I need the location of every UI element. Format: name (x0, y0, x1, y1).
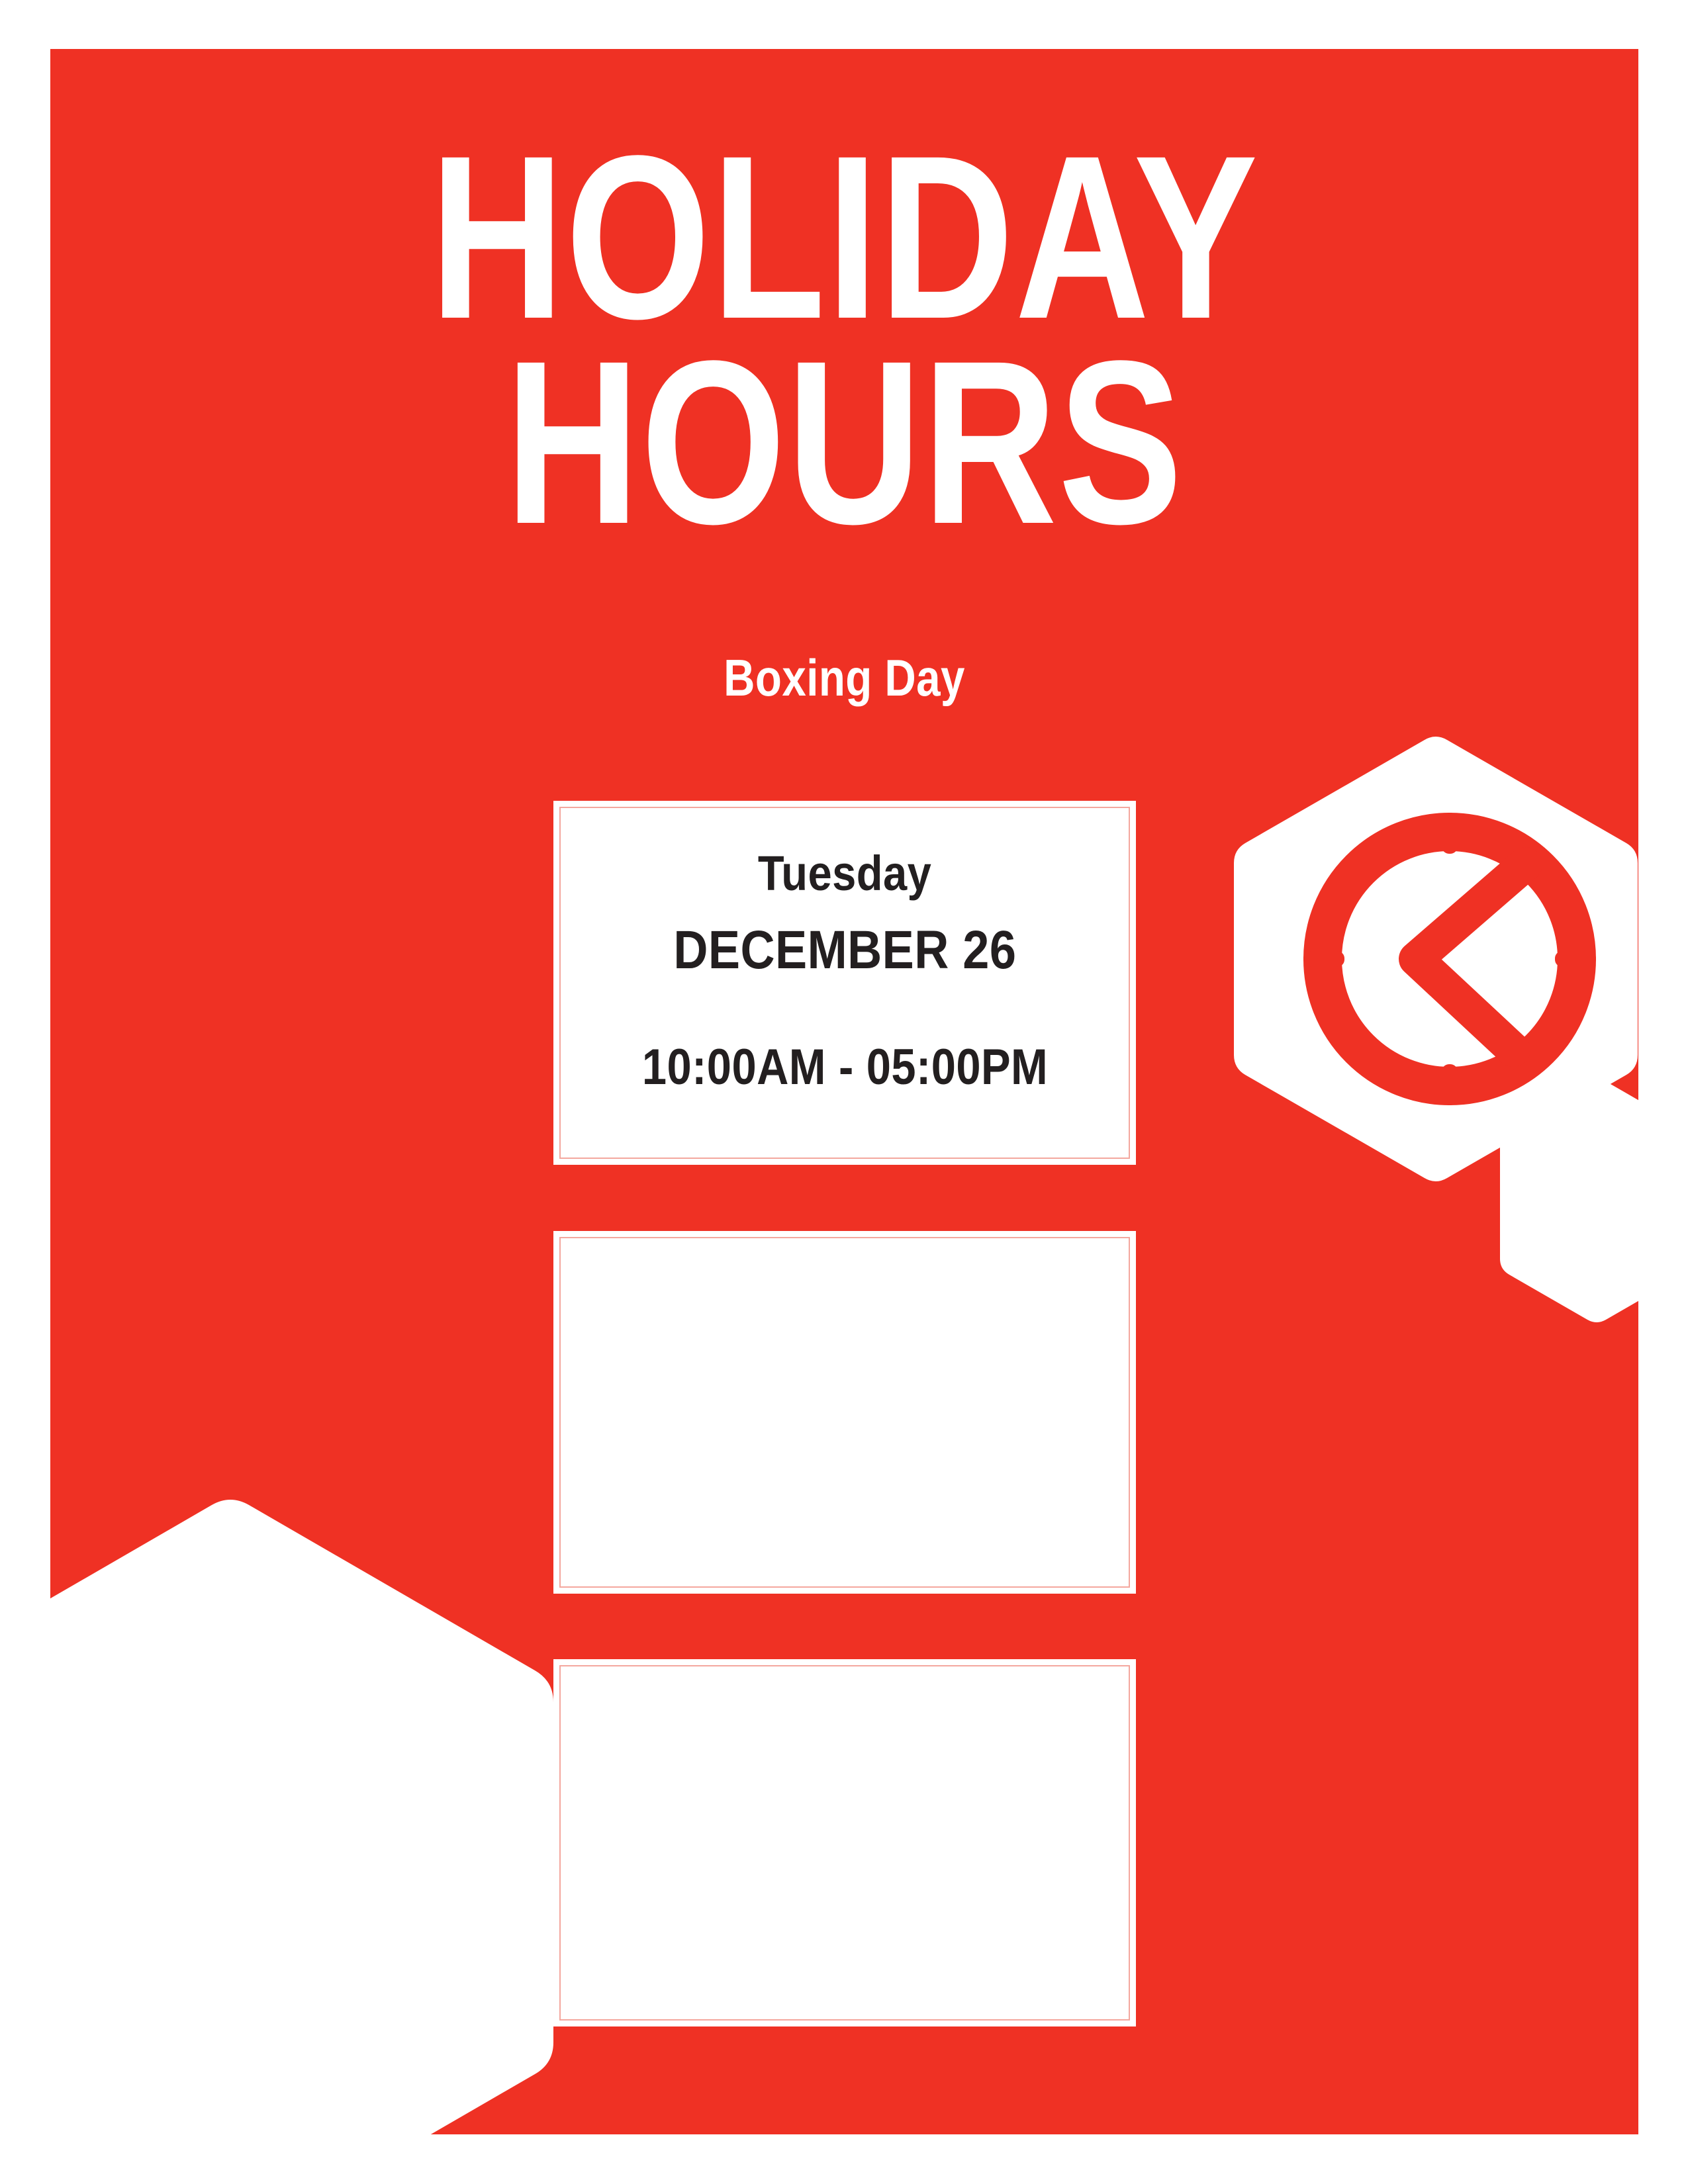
hours-card[interactable] (553, 1659, 1136, 2026)
hours-card-inner (559, 1237, 1130, 1588)
hours-card[interactable]: Tuesday DECEMBER 26 10:00AM - 05:00PM (553, 801, 1136, 1165)
hours-card[interactable] (553, 1231, 1136, 1594)
hexagon-accent-bottom-left-icon (50, 1492, 580, 2134)
poster-root: HOLIDAY HOURS Boxing Day (0, 0, 1688, 2184)
hours-card-inner (559, 1665, 1130, 2021)
hours-card-date: DECEMBER 26 (673, 923, 1016, 978)
hexagon-accent-right-icon (1493, 1075, 1638, 1326)
hours-card-weekday: Tuesday (758, 849, 931, 898)
headline-line-2: HOURS (209, 340, 1479, 545)
clock-icon (1229, 731, 1638, 1187)
poster-background-panel: HOLIDAY HOURS Boxing Day (50, 49, 1638, 2134)
hours-card-time: 10:00AM - 05:00PM (641, 1042, 1047, 1093)
page-subtitle: Boxing Day (177, 648, 1511, 708)
page-title: HOLIDAY HOURS (50, 135, 1638, 545)
hours-card-inner: Tuesday DECEMBER 26 10:00AM - 05:00PM (559, 807, 1130, 1159)
headline-line-1: HOLIDAY (209, 135, 1479, 340)
